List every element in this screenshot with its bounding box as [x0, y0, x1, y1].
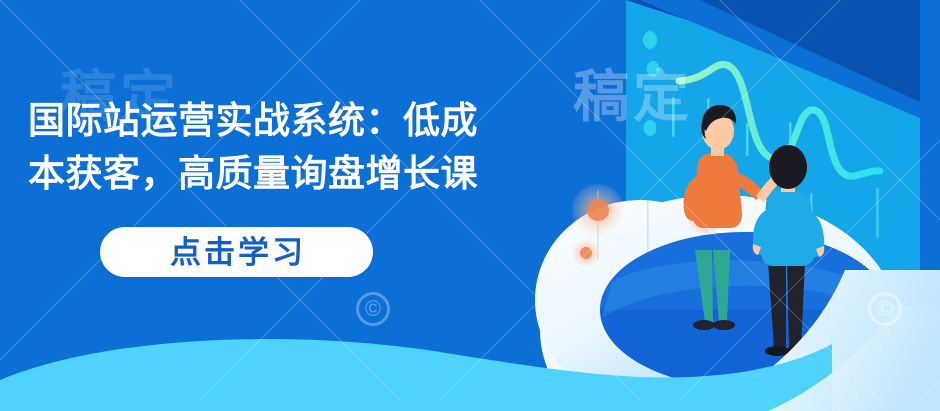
bottom-waves	[0, 0, 940, 411]
click-to-learn-button[interactable]: 点击学习	[100, 227, 373, 277]
cta-button-label: 点击学习	[167, 237, 306, 268]
headline-line-1: 国际站运营实战系统：低成	[28, 94, 628, 147]
course-promo-banner: 稿定 稿定 © © 国际站运营实战系统：低成 本获客，高质量询盘增长课 点击学习	[0, 0, 940, 411]
headline-line-2: 本获客，高质量询盘增长课	[28, 147, 628, 200]
headline-block: 国际站运营实战系统：低成 本获客，高质量询盘增长课	[28, 94, 628, 200]
